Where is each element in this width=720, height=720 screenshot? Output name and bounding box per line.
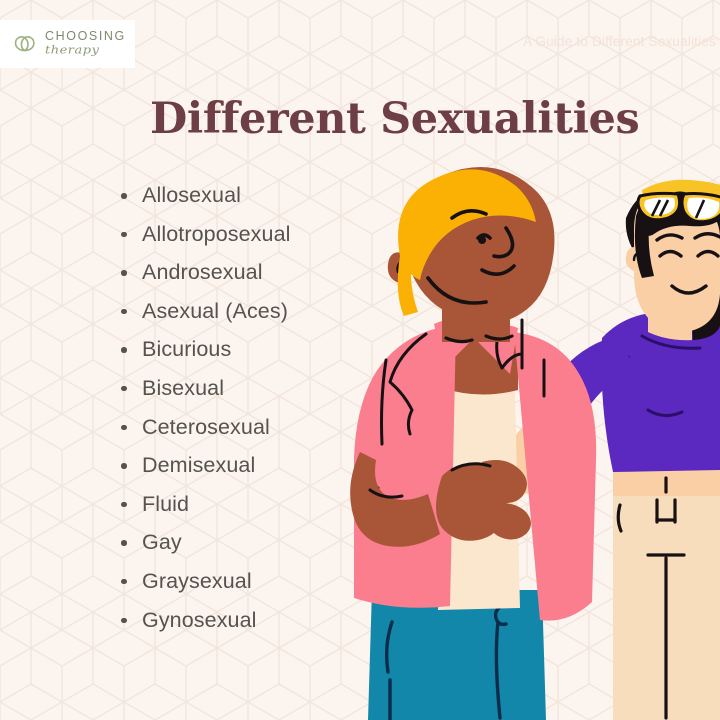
bullet-icon [121, 193, 127, 199]
list-item: Androsexual [118, 253, 291, 292]
list-item: Allotroposexual [118, 215, 291, 254]
bullet-icon [121, 579, 127, 585]
list-item-label: Allosexual [142, 183, 241, 207]
bullet-icon [121, 386, 127, 392]
list-item-label: Gay [142, 530, 182, 554]
list-item: Gynosexual [118, 601, 291, 640]
list-item: Demisexual [118, 446, 291, 485]
bullet-icon [121, 502, 127, 508]
corner-watermark: A Guide to Different Sexualities [523, 34, 716, 49]
list-item: Ceterosexual [118, 408, 291, 447]
bullet-icon [121, 618, 127, 624]
list-item: Allosexual [118, 176, 291, 215]
bullet-icon [121, 232, 127, 238]
list-item-label: Allotroposexual [142, 222, 291, 246]
infographic-canvas: CHOOSING therapy A Guide to Different Se… [0, 0, 720, 720]
logo-wordmark-primary: CHOOSING [45, 30, 126, 43]
bullet-icon [121, 270, 127, 276]
person-left [350, 167, 596, 720]
bullet-icon [121, 463, 127, 469]
list-item: Fluid [118, 485, 291, 524]
lotus-leaf-icon [10, 29, 40, 59]
list-item-label: Fluid [142, 492, 189, 516]
list-item-label: Gynosexual [142, 608, 257, 632]
brand-logo[interactable]: CHOOSING therapy [0, 20, 135, 68]
list-item: Bisexual [118, 369, 291, 408]
list-item-label: Demisexual [142, 453, 255, 477]
list-item: Asexual (Aces) [118, 292, 291, 331]
bullet-icon [121, 309, 127, 315]
list-item-label: Androsexual [142, 260, 263, 284]
list-item-label: Graysexual [142, 569, 252, 593]
list-item: Gay [118, 523, 291, 562]
page-title: Different Sexualities [150, 98, 639, 141]
list-item-label: Ceterosexual [142, 415, 270, 439]
list-item-label: Bisexual [142, 376, 224, 400]
list-item-label: Bicurious [142, 337, 231, 361]
left-person-eye-dot [478, 236, 486, 244]
list-item: Graysexual [118, 562, 291, 601]
two-people-couple-illustration [330, 160, 720, 720]
list-item: Bicurious [118, 330, 291, 369]
logo-wordmark-secondary: therapy [45, 45, 126, 56]
bullet-icon [121, 540, 127, 546]
sexualities-list: Allosexual Allotroposexual Androsexual A… [118, 176, 291, 639]
bullet-icon [121, 347, 127, 353]
list-item-label: Asexual (Aces) [142, 299, 288, 323]
bullet-icon [121, 425, 127, 431]
